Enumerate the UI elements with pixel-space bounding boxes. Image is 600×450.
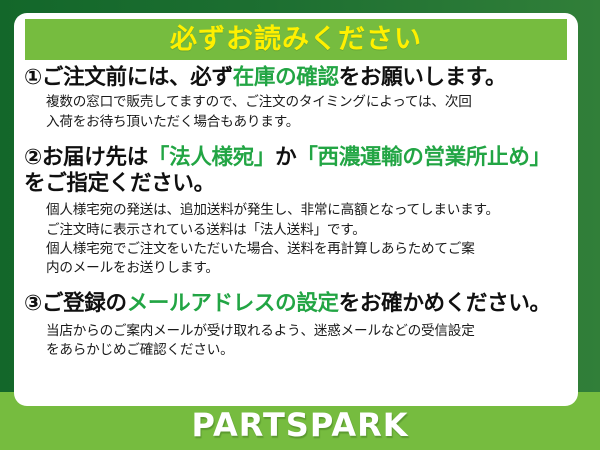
item-3-heading-highlight: メールアドレスの設定 [127, 291, 339, 316]
item-2-heading: ②お届け先は「法人様宛」か「西濃運輸の営業所止め」をご指定ください。 [24, 145, 570, 197]
header-title: 必ずお読みください [170, 26, 422, 53]
notice-item-1: ①ご注文前には、必ず在庫の確認をお願いします。 複数の窓口で販売してますので、ご… [24, 65, 570, 132]
item-1-heading-pre: ご注文前には、必ず [42, 65, 233, 90]
item-2-body-line-4: 内のメールをお送りします。 [46, 259, 570, 278]
notice-item-3: ③ご登録のメールアドレスの設定をお確かめください。 当店からのご案内メールが受け… [24, 291, 570, 360]
item-2-heading-highlight-2: 「西濃運輸の営業所止め」 [296, 145, 550, 170]
header-banner: 必ずお読みください [25, 19, 567, 60]
notice-items: ①ご注文前には、必ず在庫の確認をお願いします。 複数の窓口で販売してますので、ご… [24, 65, 570, 362]
item-1-body-line-2: 入荷をお待ち頂いただく場合もあります。 [46, 113, 570, 132]
item-2-body-line-2: ご注文時に表示されている送料は「法人送料」です。 [46, 221, 570, 240]
item-3-body-line-1: 当店からのご案内メールが受け取れるよう、迷惑メールなどの受信設定 [46, 322, 570, 341]
item-1-marker: ① [24, 65, 42, 90]
item-1-body: 複数の窓口で販売してますので、ご注文のタイミングによっては、次回 入荷をお待ち頂… [46, 93, 570, 132]
item-3-body: 当店からのご案内メールが受け取れるよう、迷惑メールなどの受信設定 をあらかじめご… [46, 322, 570, 361]
item-3-marker: ③ [24, 291, 42, 316]
notice-frame: 必ずお読みください ①ご注文前には、必ず在庫の確認をお願いします。 複数の窓口で… [0, 0, 600, 450]
item-2-body-line-1: 個人様宅宛の発送は、追加送料が発生し、非常に高額となってしまいます。 [46, 201, 570, 220]
item-1-heading-highlight: 在庫の確認 [233, 65, 339, 90]
brand-wordmark: PARTSPARK [0, 406, 600, 444]
item-2-marker: ② [24, 145, 42, 170]
item-1-body-line-1: 複数の窓口で販売してますので、ご注文のタイミングによっては、次回 [46, 93, 570, 112]
item-1-heading: ①ご注文前には、必ず在庫の確認をお願いします。 [24, 65, 570, 91]
item-3-body-line-2: をあらかじめご確認ください。 [46, 341, 570, 360]
item-2-heading-highlight: 「法人様宛」 [148, 145, 275, 170]
item-2-body: 個人様宅宛の発送は、追加送料が発生し、非常に高額となってしまいます。 ご注文時に… [46, 201, 570, 278]
item-3-heading-pre: ご登録の [42, 291, 127, 316]
item-2-heading-mid: か [275, 145, 296, 170]
notice-item-2: ②お届け先は「法人様宛」か「西濃運輸の営業所止め」をご指定ください。 個人様宅宛… [24, 145, 570, 279]
item-1-heading-post: をお願いします。 [339, 65, 506, 90]
item-2-heading-pre: お届け先は [42, 145, 148, 170]
notice-panel: 必ずお読みください ①ご注文前には、必ず在庫の確認をお願いします。 複数の窓口で… [14, 13, 578, 406]
item-2-heading-post: をご指定ください。 [24, 171, 215, 196]
item-3-heading: ③ご登録のメールアドレスの設定をお確かめください。 [24, 291, 570, 317]
item-2-body-line-3: 個人様宅宛でご注文をいただいた場合、送料を再計算しあらためてご案 [46, 240, 570, 259]
item-3-heading-post: をお確かめください。 [339, 291, 551, 316]
